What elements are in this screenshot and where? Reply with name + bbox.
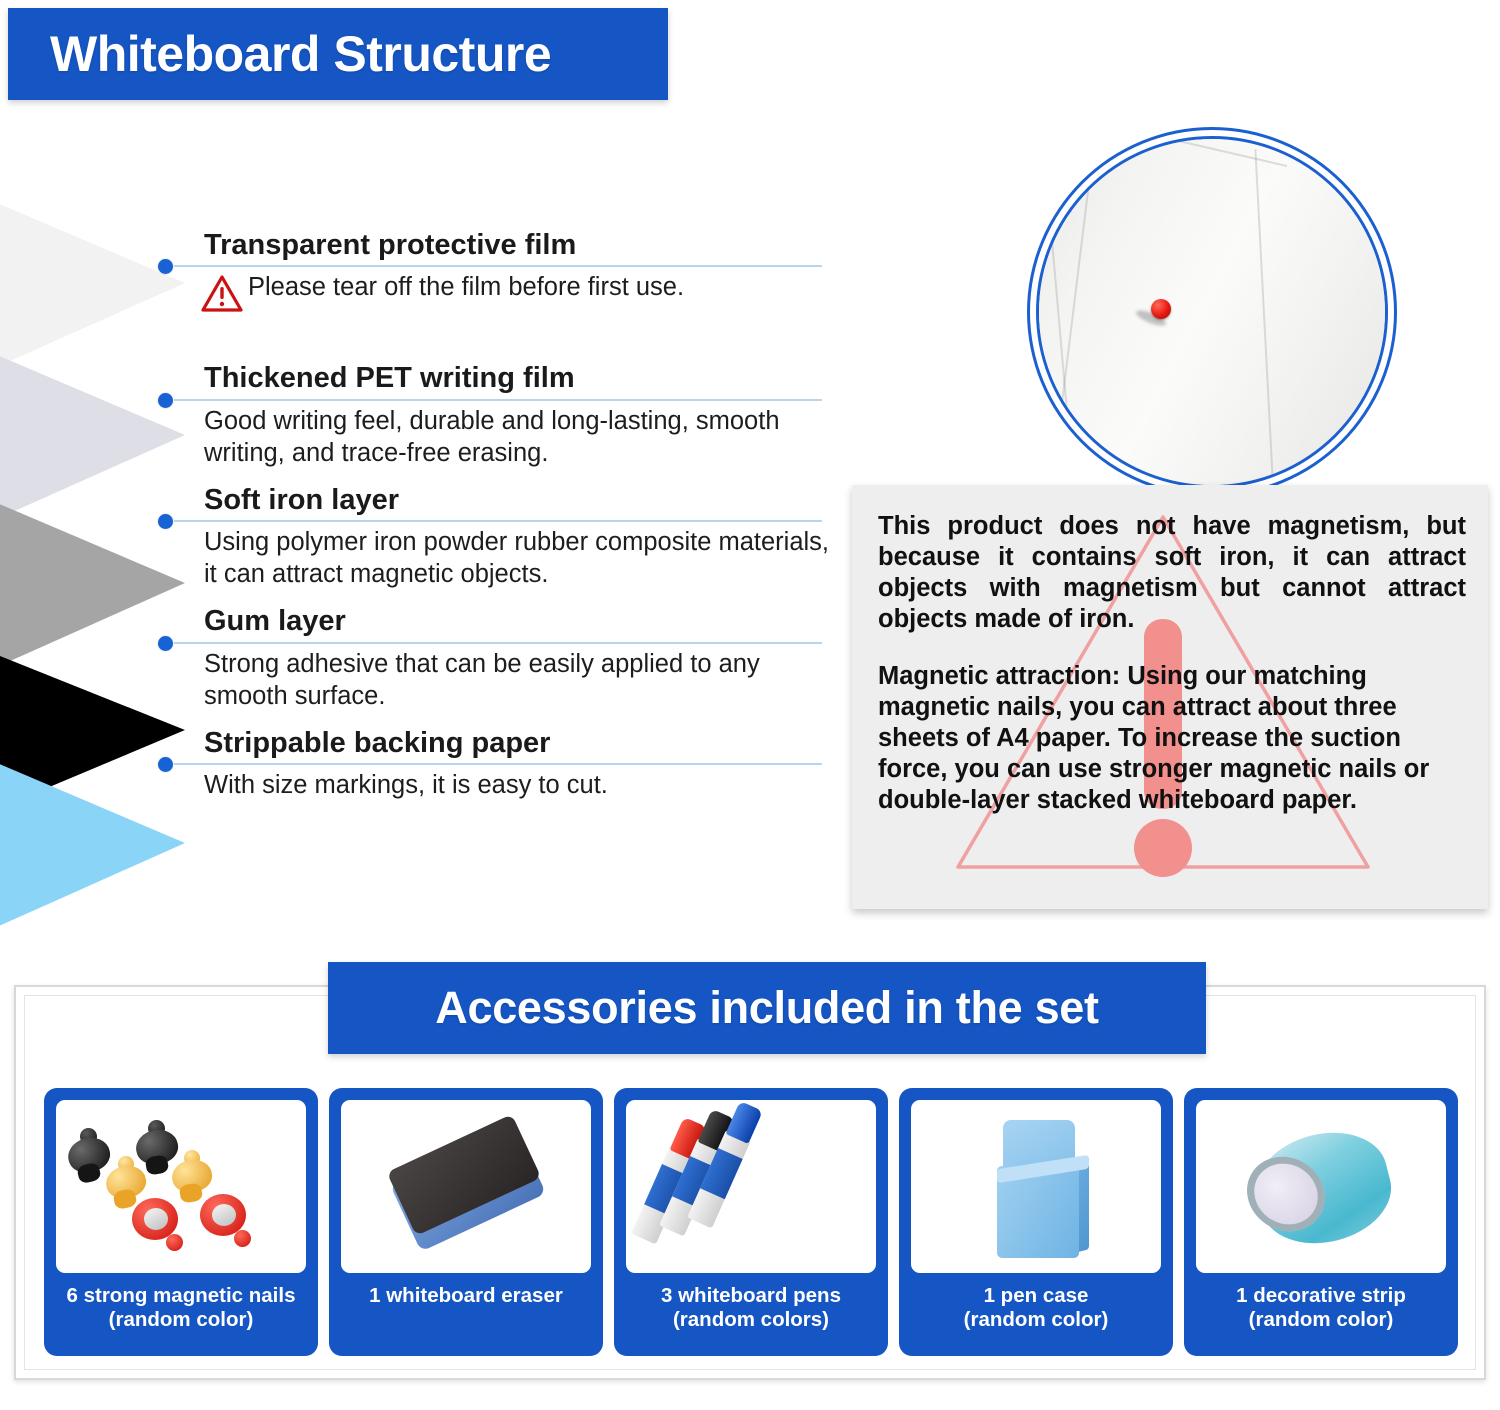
wedge-backing-paper [0, 760, 185, 930]
info-paragraph-2: Magnetic attraction: Using our matching … [878, 661, 1466, 815]
magnetism-info-panel: This product does not have magnetism, bu… [852, 485, 1488, 909]
layer-description: Using polymer iron powder rubber composi… [160, 526, 840, 590]
paper-sheet-background [1039, 139, 1385, 485]
layer-bullet-dot [158, 393, 173, 408]
layer-title: Thickened PET writing film [160, 361, 840, 395]
layer-bullet-dot [158, 636, 173, 651]
page-title: Whiteboard Structure [8, 25, 551, 83]
layer-divider [174, 763, 822, 765]
layer-description: Good writing feel, durable and long-last… [160, 405, 840, 469]
layer-description-wrapper: Please tear off the film before first us… [160, 271, 840, 303]
layer-item-backing-paper: Strippable backing paper With size marki… [160, 726, 840, 801]
whiteboard-eraser-image [341, 1100, 591, 1273]
accessory-card-magnetic-nails[interactable]: 6 strong magnetic nails (random color) [44, 1088, 318, 1356]
accessory-card-whiteboard-eraser[interactable]: 1 whiteboard eraser [329, 1088, 603, 1356]
accessory-caption: 1 pen case (random color) [964, 1284, 1109, 1332]
pen-case-image [911, 1100, 1161, 1273]
layer-divider [174, 265, 822, 267]
info-paragraph-1: This product does not have magnetism, bu… [878, 511, 1466, 634]
layer-bullet-dot [158, 757, 173, 772]
whiteboard-pens-image [626, 1100, 876, 1273]
layer-title: Strippable backing paper [160, 726, 840, 760]
warning-triangle-icon [200, 273, 244, 313]
accessory-caption: 1 decorative strip (random color) [1236, 1284, 1406, 1332]
accessories-title: Accessories included in the set [435, 982, 1098, 1034]
accessory-card-pen-case[interactable]: 1 pen case (random color) [899, 1088, 1173, 1356]
layer-item-soft-iron: Soft iron layer Using polymer iron powde… [160, 483, 840, 590]
accessory-caption: 1 whiteboard eraser [369, 1284, 563, 1308]
magnetic-nail-photo [1036, 136, 1388, 488]
accessory-caption: 6 strong magnetic nails (random color) [67, 1284, 296, 1332]
red-magnetic-pin-icon [1151, 299, 1171, 319]
accessories-banner: Accessories included in the set [328, 962, 1206, 1054]
layer-divider [174, 520, 822, 522]
layer-description: Strong adhesive that can be easily appli… [160, 648, 840, 712]
layer-description: With size markings, it is easy to cut. [160, 769, 840, 801]
layer-bullet-dot [158, 514, 173, 529]
decorative-strip-image [1196, 1100, 1446, 1273]
layer-list: Transparent protective film Please tear … [160, 228, 840, 805]
layer-divider [174, 642, 822, 644]
accessory-card-whiteboard-pens[interactable]: 3 whiteboard pens (random colors) [614, 1088, 888, 1356]
layer-divider [174, 399, 822, 401]
infographic-page: Whiteboard Structure Transparent protect… [0, 0, 1500, 1410]
accessory-caption: 3 whiteboard pens (random colors) [661, 1284, 841, 1332]
layer-item-pet-film: Thickened PET writing film Good writing … [160, 361, 840, 468]
accessories-card-list: 6 strong magnetic nails (random color) 1… [44, 1088, 1456, 1356]
layer-item-transparent-film: Transparent protective film Please tear … [160, 228, 840, 303]
layer-title: Transparent protective film [160, 228, 840, 262]
layer-title: Gum layer [160, 604, 840, 638]
wedge-transparent-film [0, 200, 185, 370]
layer-item-gum: Gum layer Strong adhesive that can be ea… [160, 604, 840, 711]
header-banner: Whiteboard Structure [8, 8, 668, 100]
wedge-pet-film [0, 352, 185, 522]
accessory-card-decorative-strip[interactable]: 1 decorative strip (random color) [1184, 1088, 1458, 1356]
layer-title: Soft iron layer [160, 483, 840, 517]
magnetic-nails-image [56, 1100, 306, 1273]
layer-description: Please tear off the film before first us… [248, 273, 684, 301]
